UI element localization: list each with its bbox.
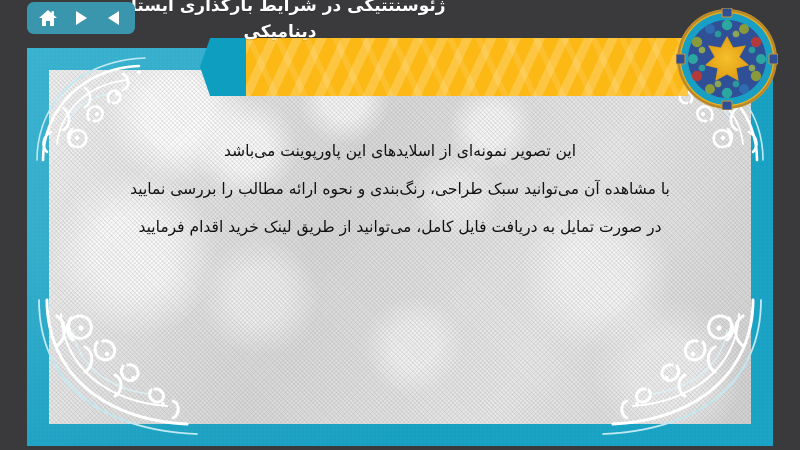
banner-background — [244, 38, 688, 96]
next-icon — [71, 9, 91, 27]
slide-body-text: این تصویر نمونه‌ای از اسلایدهای این پاور… — [67, 132, 733, 246]
slide-content-area — [49, 70, 751, 424]
body-line-2: با مشاهده آن می‌توانید سبک طراحی، رنگ‌بن… — [67, 170, 733, 208]
previous-icon — [104, 9, 124, 27]
slide-title-banner — [200, 38, 688, 96]
paper-hatch-texture — [49, 70, 751, 424]
body-line-3: در صورت تمایل به دریافت فایل کامل، می‌تو… — [67, 208, 733, 246]
previous-slide-button[interactable] — [100, 5, 128, 31]
presentation-viewer: این تصویر نمونه‌ای از اسلایدهای این پاور… — [0, 0, 800, 450]
viewer-toolbar — [27, 2, 135, 34]
next-slide-button[interactable] — [67, 5, 95, 31]
banner-arrow-shape — [200, 38, 246, 96]
home-icon — [37, 8, 59, 28]
banner-pattern-texture — [244, 38, 688, 96]
home-button[interactable] — [34, 5, 62, 31]
slide-canvas[interactable]: این تصویر نمونه‌ای از اسلایدهای این پاور… — [27, 48, 773, 446]
body-line-1: این تصویر نمونه‌ای از اسلایدهای این پاور… — [67, 132, 733, 170]
persian-medallion-ornament — [676, 8, 778, 110]
